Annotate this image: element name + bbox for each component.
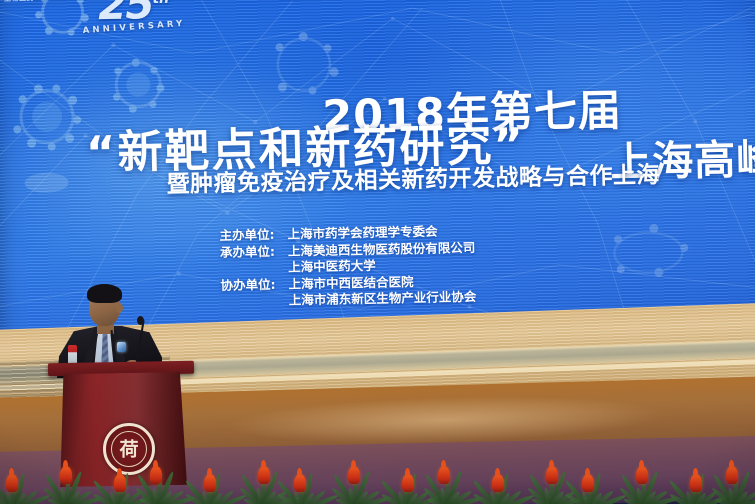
plant-bloom bbox=[60, 466, 72, 484]
plant-bloom bbox=[6, 474, 18, 492]
plant-bloom bbox=[402, 474, 414, 492]
plant bbox=[470, 454, 526, 504]
organizer-value: 上海中医药大学 bbox=[288, 258, 376, 276]
plant-bloom bbox=[582, 474, 594, 492]
plant-bloom bbox=[348, 466, 360, 484]
plant bbox=[614, 451, 670, 504]
corner-logo-text: 生物医药 bbox=[4, 0, 34, 4]
plant-bloom bbox=[492, 474, 504, 492]
plant-bloom bbox=[726, 466, 738, 484]
speaker-hair bbox=[87, 284, 122, 303]
plant bbox=[706, 451, 755, 504]
plant-bloom bbox=[636, 466, 648, 484]
organizer-label: 主办单位: bbox=[192, 227, 287, 245]
plant bbox=[38, 451, 94, 504]
anniversary-superscript: th bbox=[152, 0, 169, 7]
plant bbox=[130, 451, 186, 504]
plant-bloom bbox=[438, 466, 450, 484]
plant-bloom bbox=[204, 474, 216, 492]
plant bbox=[418, 451, 474, 504]
plant bbox=[274, 454, 330, 504]
speaker-name-badge bbox=[117, 342, 126, 352]
plant-bloom bbox=[690, 474, 702, 492]
organizer-label: 协办单位: bbox=[193, 276, 288, 294]
plant bbox=[326, 451, 382, 504]
anniversary-badge: 25th ANNIVERSARY bbox=[82, 0, 186, 33]
plant bbox=[0, 454, 42, 504]
decorative-plant-row bbox=[0, 444, 755, 504]
speaker-ear bbox=[116, 303, 123, 313]
plant-bloom bbox=[546, 466, 558, 484]
plant-bloom bbox=[258, 466, 270, 484]
plant bbox=[182, 454, 238, 504]
organizer-label: 承办单位: bbox=[193, 243, 288, 261]
microphone-head-icon bbox=[137, 316, 144, 325]
plant-bloom bbox=[114, 474, 126, 492]
plant-bloom bbox=[294, 474, 306, 492]
plant-bloom bbox=[150, 466, 162, 484]
organizer-value: 上海市浦东新区生物产业行业协会 bbox=[289, 289, 477, 309]
plant bbox=[562, 454, 618, 504]
organizer-list: 主办单位: 上海市药学会药理学专委会 承办单位: 上海美迪西生物医药股份有限公司… bbox=[192, 223, 476, 311]
conference-stage-photo: 生物医药 25th ANNIVERSARY 2018年第七届 “新靶点和新药研究… bbox=[0, 0, 755, 504]
